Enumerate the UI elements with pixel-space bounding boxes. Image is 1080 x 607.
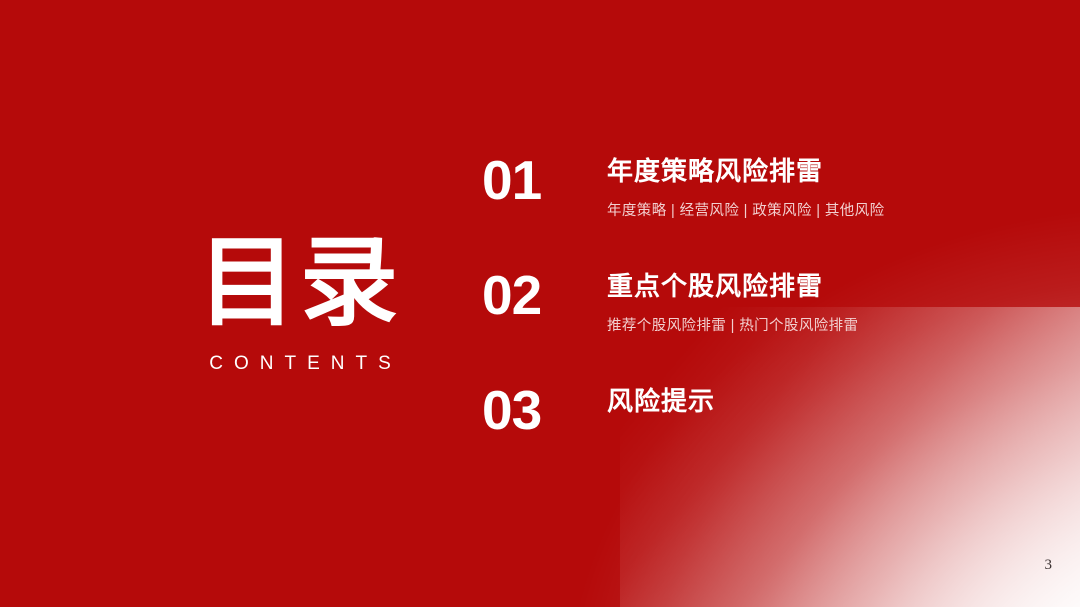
toc-entry-03[interactable]: 03 风险提示: [482, 383, 1042, 498]
toc-entry-01[interactable]: 01 年度策略风险排雷 年度策略 | 经营风险 | 政策风险 | 其他风险: [482, 153, 1042, 268]
toc-text-group: 年度策略风险排雷 年度策略 | 经营风险 | 政策风险 | 其他风险: [607, 155, 884, 220]
toc-text-group: 重点个股风险排雷 推荐个股风险排雷 | 热门个股风险排雷: [607, 270, 858, 335]
toc-entry-02[interactable]: 02 重点个股风险排雷 推荐个股风险排雷 | 热门个股风险排雷: [482, 268, 1042, 383]
page-number: 3: [1045, 557, 1053, 574]
table-of-contents: 01 年度策略风险排雷 年度策略 | 经营风险 | 政策风险 | 其他风险 02…: [482, 153, 1042, 498]
toc-heading: 重点个股风险排雷: [607, 270, 858, 303]
page-title-subtitle: CONTENTS: [120, 353, 480, 375]
toc-text-group: 风险提示: [607, 385, 715, 418]
page-title: 目录: [120, 233, 480, 331]
toc-heading: 风险提示: [607, 385, 715, 418]
toc-number: 03: [482, 383, 541, 438]
title-block: 目录 CONTENTS: [120, 233, 480, 375]
toc-number: 01: [482, 153, 541, 208]
toc-subtitle: 推荐个股风险排雷 | 热门个股风险排雷: [607, 314, 858, 335]
toc-subtitle: 年度策略 | 经营风险 | 政策风险 | 其他风险: [607, 199, 884, 220]
toc-number: 02: [482, 268, 541, 323]
toc-heading: 年度策略风险排雷: [607, 155, 884, 188]
slide-canvas: 目录 CONTENTS 01 年度策略风险排雷 年度策略 | 经营风险 | 政策…: [0, 0, 1080, 607]
